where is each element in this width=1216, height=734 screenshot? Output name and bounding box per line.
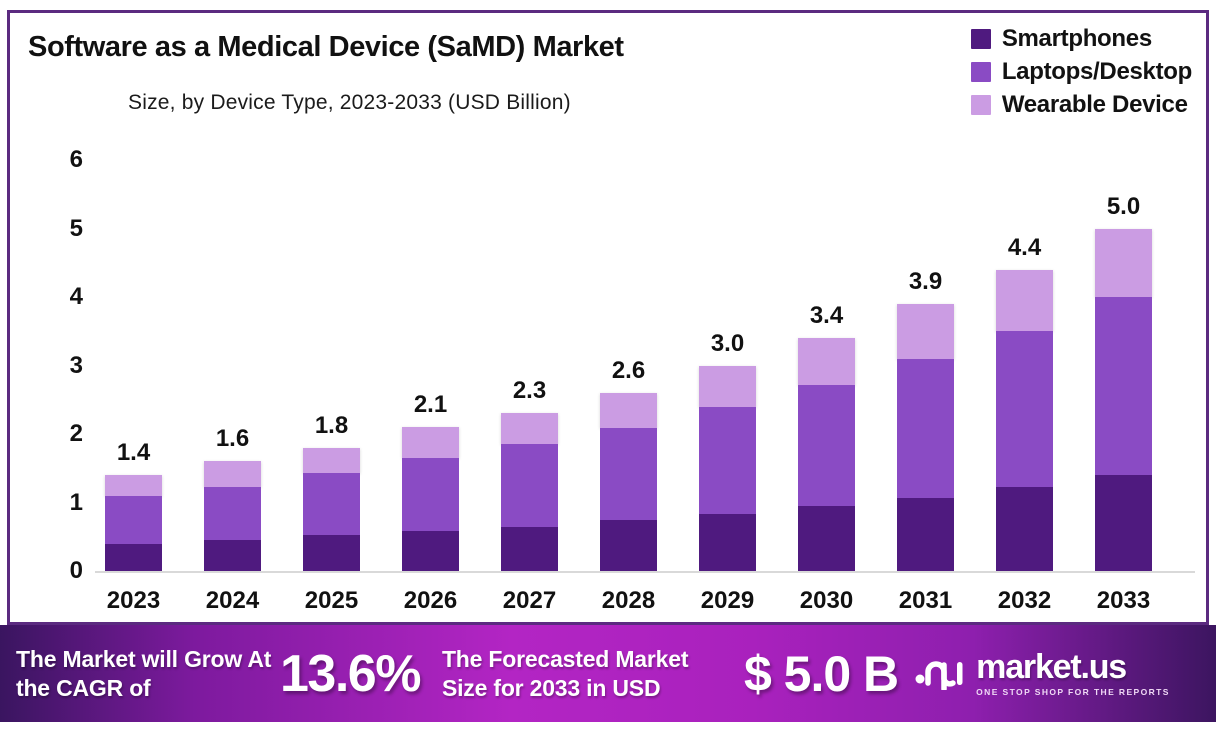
bar-segment-smartphones[interactable] [897, 498, 954, 571]
bar-segment-laptops-desktop[interactable] [897, 359, 954, 497]
y-axis-tick-label: 3 [37, 352, 83, 380]
brand-tagline: ONE STOP SHOP FOR THE REPORTS [976, 687, 1170, 697]
chart-subtitle: Size, by Device Type, 2023-2033 (USD Bil… [128, 91, 571, 115]
bar-total-label: 2.1 [414, 391, 447, 419]
bar-total-label: 4.4 [1008, 234, 1041, 262]
bar-series-container: 1.420231.620241.820252.120262.320272.620… [105, 148, 1200, 571]
bar-total-label: 1.4 [117, 439, 150, 467]
bar-segment-wearable-device[interactable] [204, 461, 261, 486]
bar-total-label: 3.0 [711, 330, 744, 358]
bar-segment-laptops-desktop[interactable] [600, 428, 657, 520]
footer-banner: The Market will Grow Atthe CAGR of 13.6%… [0, 625, 1216, 722]
legend-item: Laptops/Desktop [971, 58, 1192, 86]
legend-label: Smartphones [1002, 25, 1152, 53]
bar-segment-laptops-desktop[interactable] [798, 385, 855, 506]
bar-group[interactable]: 3.42030 [798, 148, 855, 571]
chart-frame: Software as a Medical Device (SaMD) Mark… [7, 10, 1209, 625]
brand-text: market.us ONE STOP SHOP FOR THE REPORTS [976, 650, 1170, 697]
y-axis-tick-label: 1 [37, 489, 83, 517]
y-axis-tick-label: 4 [37, 283, 83, 311]
bar-segment-wearable-device[interactable] [402, 427, 459, 458]
bar-segment-smartphones[interactable] [600, 520, 657, 571]
market-us-mark-icon [914, 652, 968, 695]
y-axis-tick-label: 6 [37, 146, 83, 174]
bar-group[interactable]: 2.32027 [501, 148, 558, 571]
bar-segment-smartphones[interactable] [105, 544, 162, 571]
x-axis-tick-label: 2027 [503, 587, 556, 615]
bar-group[interactable]: 3.92031 [897, 148, 954, 571]
footer-cagr-value: 13.6% [280, 644, 420, 704]
bar-segment-smartphones[interactable] [501, 527, 558, 571]
legend-swatch-icon [971, 95, 991, 115]
brand-name: market.us [976, 650, 1170, 684]
bar-segment-smartphones[interactable] [303, 535, 360, 571]
x-axis-tick-label: 2029 [701, 587, 754, 615]
brand-logo: market.us ONE STOP SHOP FOR THE REPORTS [914, 650, 1170, 697]
bar-segment-laptops-desktop[interactable] [204, 487, 261, 540]
x-axis-tick-label: 2028 [602, 587, 655, 615]
infographic-root: Software as a Medical Device (SaMD) Mark… [0, 0, 1216, 734]
bar-group[interactable]: 2.12026 [402, 148, 459, 571]
bar-group[interactable]: 1.42023 [105, 148, 162, 571]
bar-segment-wearable-device[interactable] [798, 338, 855, 385]
footer-forecast-value: $ 5.0 B [744, 645, 898, 703]
bar-segment-wearable-device[interactable] [699, 366, 756, 408]
bar-segment-laptops-desktop[interactable] [105, 496, 162, 544]
bar-segment-smartphones[interactable] [402, 531, 459, 571]
bar-segment-laptops-desktop[interactable] [699, 407, 756, 514]
bar-segment-laptops-desktop[interactable] [303, 473, 360, 535]
bar-segment-wearable-device[interactable] [897, 304, 954, 359]
bar-group[interactable]: 2.62028 [600, 148, 657, 571]
bar-segment-wearable-device[interactable] [1095, 229, 1152, 298]
y-axis-tick-label: 5 [37, 215, 83, 243]
footer-forecast-label: The Forecasted MarketSize for 2033 in US… [442, 645, 742, 701]
bar-total-label: 2.3 [513, 377, 546, 405]
bar-segment-wearable-device[interactable] [600, 393, 657, 428]
y-axis-tick-label: 0 [37, 557, 83, 585]
legend-label: Laptops/Desktop [1002, 58, 1192, 86]
bar-group[interactable]: 4.42032 [996, 148, 1053, 571]
bar-segment-smartphones[interactable] [699, 514, 756, 571]
bar-segment-wearable-device[interactable] [996, 270, 1053, 332]
bar-total-label: 1.8 [315, 412, 348, 440]
legend-label: Wearable Device [1002, 91, 1188, 119]
bar-segment-laptops-desktop[interactable] [402, 458, 459, 531]
bar-segment-smartphones[interactable] [1095, 475, 1152, 571]
bar-total-label: 5.0 [1107, 193, 1140, 221]
x-axis-tick-label: 2025 [305, 587, 358, 615]
bar-total-label: 3.4 [810, 302, 843, 330]
bar-segment-wearable-device[interactable] [303, 448, 360, 473]
x-axis-tick-label: 2026 [404, 587, 457, 615]
x-axis-tick-label: 2033 [1097, 587, 1150, 615]
x-axis-tick-label: 2032 [998, 587, 1051, 615]
legend-swatch-icon [971, 29, 991, 49]
chart-legend: SmartphonesLaptops/DesktopWearable Devic… [971, 25, 1192, 119]
legend-item: Smartphones [971, 25, 1192, 53]
bar-segment-wearable-device[interactable] [105, 475, 162, 496]
x-axis-tick-label: 2024 [206, 587, 259, 615]
bar-group[interactable]: 1.62024 [204, 148, 261, 571]
footer-cagr-label: The Market will Grow Atthe CAGR of [16, 645, 276, 701]
bar-total-label: 2.6 [612, 357, 645, 385]
bar-total-label: 1.6 [216, 425, 249, 453]
y-axis-tick-label: 2 [37, 420, 83, 448]
plot-area: 0123456 1.420231.620241.820252.120262.32… [95, 148, 1200, 573]
bar-group[interactable]: 1.82025 [303, 148, 360, 571]
legend-swatch-icon [971, 62, 991, 82]
bar-group[interactable]: 5.02033 [1095, 148, 1152, 571]
x-axis-line [95, 571, 1195, 573]
page-title: Software as a Medical Device (SaMD) Mark… [28, 31, 624, 64]
legend-item: Wearable Device [971, 91, 1192, 119]
bar-total-label: 3.9 [909, 268, 942, 296]
bar-segment-laptops-desktop[interactable] [501, 444, 558, 527]
bar-group[interactable]: 3.02029 [699, 148, 756, 571]
x-axis-tick-label: 2031 [899, 587, 952, 615]
bar-segment-wearable-device[interactable] [501, 413, 558, 444]
bar-segment-smartphones[interactable] [204, 540, 261, 571]
bar-segment-smartphones[interactable] [996, 487, 1053, 571]
x-axis-tick-label: 2030 [800, 587, 853, 615]
bar-segment-laptops-desktop[interactable] [1095, 297, 1152, 475]
x-axis-tick-label: 2023 [107, 587, 160, 615]
bar-segment-smartphones[interactable] [798, 506, 855, 571]
bar-segment-laptops-desktop[interactable] [996, 331, 1053, 487]
